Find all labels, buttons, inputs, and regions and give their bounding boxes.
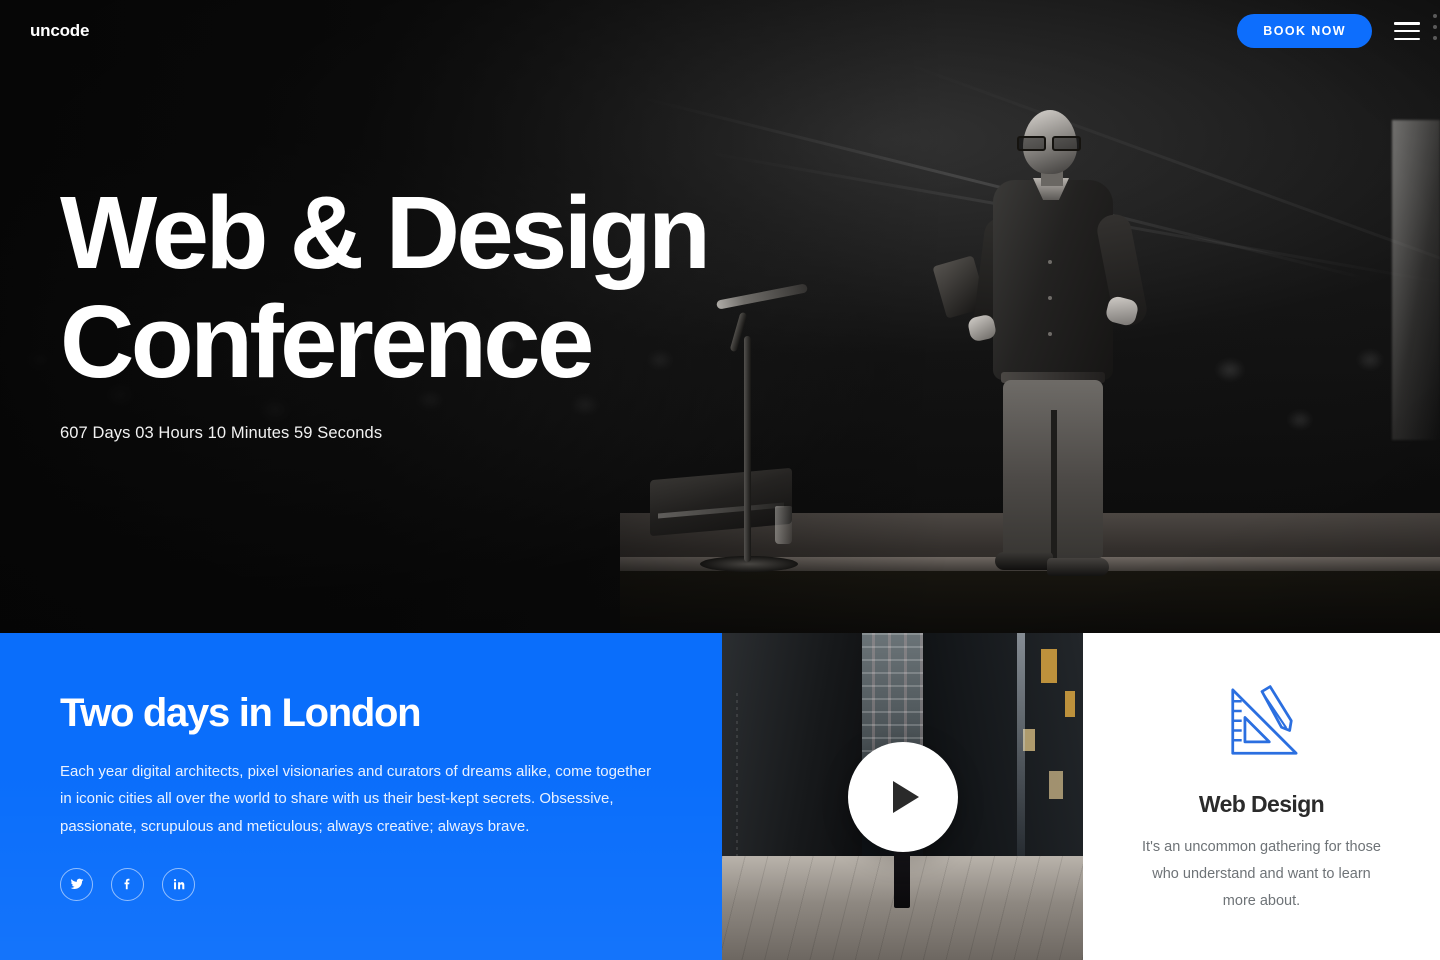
- video-window: [1049, 771, 1063, 799]
- site-logo[interactable]: uncode: [30, 21, 89, 41]
- hamburger-line: [1394, 22, 1420, 25]
- hero-title-line-1: Web & Design: [60, 175, 707, 290]
- topbar-actions: BOOK NOW: [1237, 14, 1420, 48]
- video-left-building: [722, 633, 862, 883]
- hero-content: Web & Design Conference 607 Days 03 Hour…: [60, 178, 707, 443]
- video-window: [1065, 691, 1075, 717]
- blue-intro-panel: Two days in London Each year digital arc…: [0, 633, 722, 960]
- card-title: Web Design: [1199, 791, 1324, 818]
- card-description: It's an uncommon gathering for those who…: [1137, 834, 1387, 914]
- video-glass-facade: [1017, 633, 1025, 863]
- hamburger-line: [1394, 38, 1420, 41]
- hero-section: Web & Design Conference 607 Days 03 Hour…: [0, 0, 1440, 633]
- video-walking-person: [894, 846, 910, 908]
- hero-title-line-2: Conference: [60, 287, 707, 396]
- play-triangle: [893, 781, 919, 813]
- countdown-timer: 607 Days 03 Hours 10 Minutes 59 Seconds: [60, 424, 707, 443]
- page-title: Web & Design Conference: [60, 178, 707, 396]
- blue-panel-paragraph: Each year digital architects, pixel visi…: [60, 758, 660, 840]
- scroll-dot: [1433, 25, 1437, 29]
- ruler-pencil-icon: [1221, 685, 1303, 763]
- video-window: [1041, 649, 1057, 683]
- lower-section: Two days in London Each year digital arc…: [0, 633, 1440, 960]
- landing-page: Web & Design Conference 607 Days 03 Hour…: [0, 0, 1440, 960]
- scroll-dots-indicator[interactable]: [1433, 14, 1437, 47]
- linkedin-icon[interactable]: [162, 868, 195, 901]
- twitter-icon[interactable]: [60, 868, 93, 901]
- facebook-icon[interactable]: [111, 868, 144, 901]
- scroll-dot: [1433, 14, 1437, 18]
- blue-panel-title: Two days in London: [60, 691, 662, 736]
- book-now-button[interactable]: BOOK NOW: [1237, 14, 1372, 48]
- scroll-dot: [1433, 36, 1437, 40]
- video-thumbnail-panel[interactable]: [722, 633, 1083, 960]
- top-navigation-bar: uncode BOOK NOW: [0, 0, 1440, 62]
- hamburger-line: [1394, 30, 1420, 33]
- hamburger-menu-icon[interactable]: [1394, 22, 1420, 40]
- social-links: [60, 868, 662, 901]
- play-icon[interactable]: [848, 742, 958, 852]
- web-design-card: Web Design It's an uncommon gathering fo…: [1083, 633, 1440, 960]
